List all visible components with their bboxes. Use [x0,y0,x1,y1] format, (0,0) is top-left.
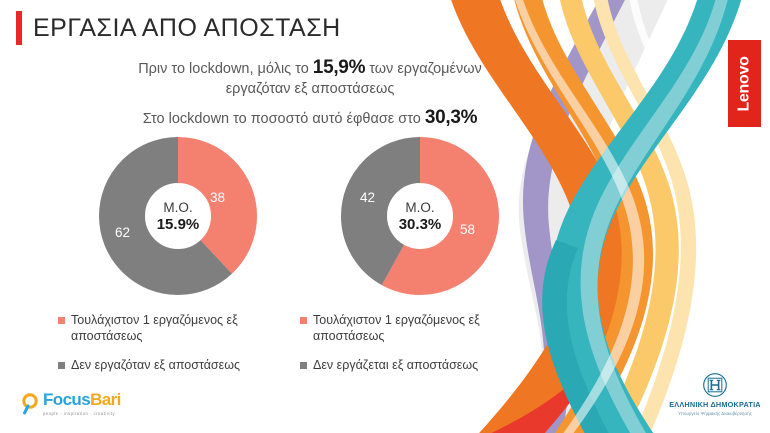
ribbon-teal-light [581,0,730,433]
title-accent-bar [16,11,22,45]
legend-before-lockdown: Τουλάχιστον 1 εργαζόμενος εξ αποστάσεως … [58,312,293,386]
donut-chart-1-svg [98,136,258,296]
ribbon-cream [592,0,696,433]
donut-chart-during-lockdown: 58 42 M.O. 30.3% [340,136,500,296]
greek-coat-of-arms-icon [702,372,728,398]
subtitle-line-1-after: των εργαζομένων [365,61,482,77]
subtitle-stat-before-lockdown: 15,9% [313,57,365,78]
legend-item[interactable]: Δεν εργάζεται εξ αποστάσεως [300,357,535,373]
subtitle-line-1-before: Πριν το lockdown, μόλις το [138,61,313,77]
page-title: ΕΡΓΑΣΙΑ ΑΠΟ ΑΠΟΣΤΑΣΗ [33,14,341,43]
subtitle-line-3-before: Στο lockdown το ποσοστό αυτό έφθασε στο [143,111,425,127]
donut-chart-before-lockdown: 38 62 M.O. 15.9% [98,136,258,296]
ribbon-gray [519,0,672,433]
focusbari-name-focus: Focus [43,391,90,408]
lenovo-logo-badge: Lenovo [728,40,761,127]
legend-label: Τουλάχιστον 1 εργαζόμενος εξ αποστάσεως [71,312,293,344]
ribbon-teal-main [550,0,744,433]
focusbari-wordmark: FocusBari people · inspiration · creativ… [43,391,121,416]
legend-swatch-remote-icon [300,317,307,324]
ribbon-yellow [558,0,679,433]
lenovo-wordmark: Lenovo [736,56,754,111]
legend-item[interactable]: Τουλάχιστον 1 εργαζόμενος εξ αποστάσεως [58,312,293,344]
magnifier-icon [22,393,42,415]
focusbari-logo: FocusBari people · inspiration · creativ… [22,391,121,416]
subtitle-line-3: Στο lockdown το ποσοστό αυτό έφθασε στο … [90,108,530,129]
ribbon-teal-tail [542,240,614,433]
hellenic-republic-logo: ΕΛΛΗΝΙΚΗ ΔΗΜΟΚΡΑΤΙΑ Υπουργείο Ψηφιακής Δ… [664,372,766,416]
legend-swatch-remote-icon [58,317,65,324]
legend-label: Δεν εργαζόταν εξ αποστάσεως [71,357,240,373]
hellenic-republic-title: ΕΛΛΗΝΙΚΗ ΔΗΜΟΚΡΑΤΙΑ [669,400,761,409]
slide-title-row: ΕΡΓΑΣΙΑ ΑΠΟ ΑΠΟΣΤΑΣΗ [16,11,341,45]
legend-swatch-nonremote-icon [58,362,65,369]
legend-label: Δεν εργάζεται εξ αποστάσεως [313,357,478,373]
focusbari-tagline: people · inspiration · creativity [43,411,121,416]
focusbari-name: FocusBari [43,391,121,408]
subtitle-line-2: εργαζόταν εξ αποστάσεως [90,79,530,99]
ribbon-white-gap [628,0,719,433]
legend-during-lockdown: Τουλάχιστον 1 εργαζόμενος εξ αποστάσεως … [300,312,535,386]
subtitle-stat-during-lockdown: 30,3% [425,107,477,128]
hellenic-republic-subtitle: Υπουργείο Ψηφιακής Διακυβέρνησης [678,411,752,416]
donut-2-label-remote: 58 [460,222,475,237]
subtitle-block: Πριν το lockdown, μόλις το 15,9% των εργ… [90,58,530,129]
subtitle-line-1: Πριν το lockdown, μόλις το 15,9% των εργ… [90,58,530,79]
donut-chart-2-svg [340,136,500,296]
legend-swatch-nonremote-icon [300,362,307,369]
legend-label: Τουλάχιστον 1 εργαζόμενος εξ αποστάσεως [313,312,535,344]
focusbari-name-bari: Bari [90,391,121,408]
slide-canvas: ΕΡΓΑΣΙΑ ΑΠΟ ΑΠΟΣΤΑΣΗ Πριν το lockdown, μ… [0,0,770,433]
donut-1-label-nonremote: 62 [115,225,130,240]
donut-2-label-nonremote: 42 [360,190,375,205]
legend-item[interactable]: Δεν εργαζόταν εξ αποστάσεως [58,357,293,373]
legend-item[interactable]: Τουλάχιστον 1 εργαζόμενος εξ αποστάσεως [300,312,535,344]
donut-1-label-remote: 38 [210,190,225,205]
ribbon-purple [523,0,630,433]
